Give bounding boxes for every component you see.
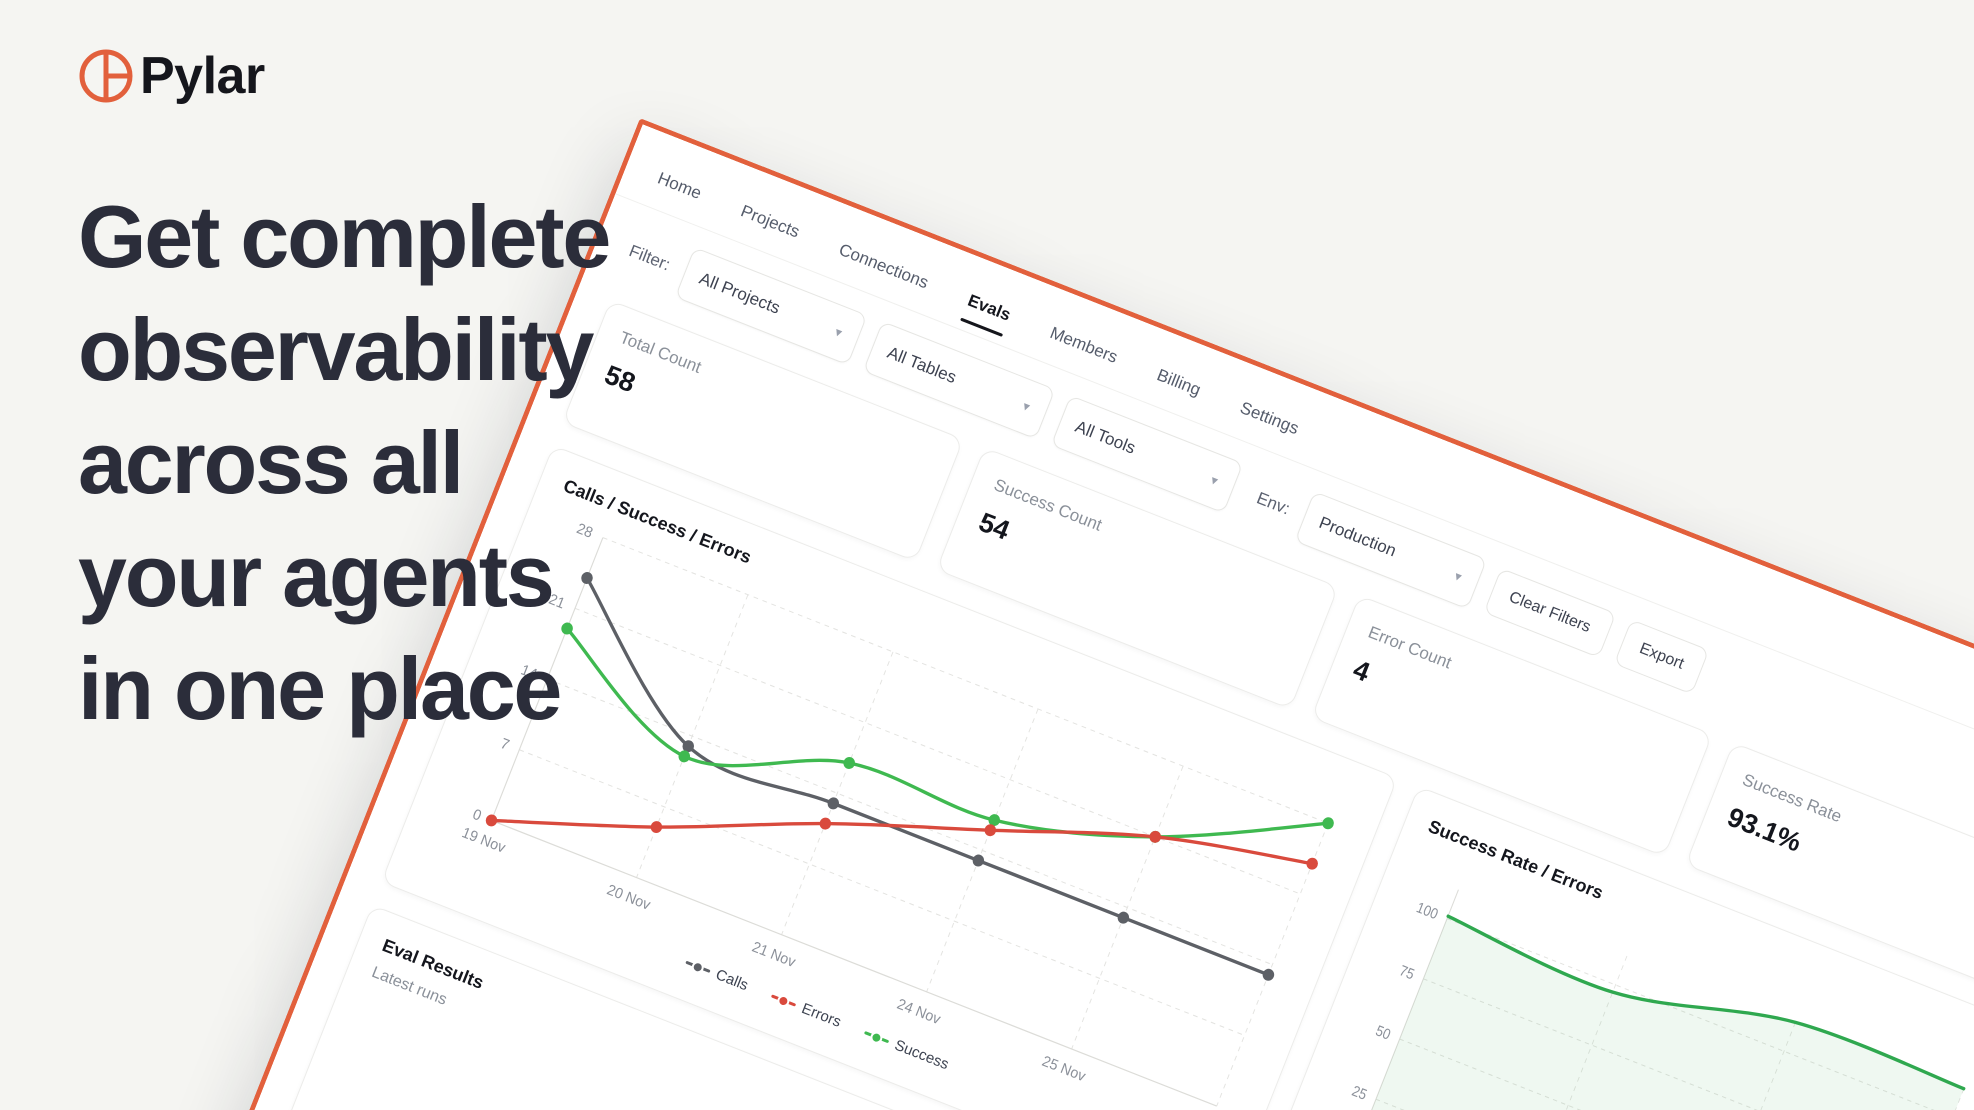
chevron-down-icon: ▾: [1020, 398, 1032, 415]
svg-text:50: 50: [1373, 1021, 1393, 1042]
legend-swatch-calls: [685, 961, 710, 973]
page-title: Get complete observability across all yo…: [78, 180, 798, 745]
pylar-circle-logo-icon: [78, 48, 134, 104]
svg-text:25: 25: [1349, 1082, 1369, 1103]
svg-text:75: 75: [1397, 961, 1417, 982]
svg-text:25 Nov: 25 Nov: [1040, 1053, 1089, 1085]
nav-item-evals[interactable]: Evals: [960, 291, 1013, 337]
brand-logo[interactable]: Pylar: [78, 44, 798, 108]
svg-text:0: 0: [470, 807, 483, 825]
legend-swatch-errors: [771, 994, 796, 1006]
svg-text:20 Nov: 20 Nov: [604, 882, 653, 914]
chevron-down-icon: ▾: [1452, 568, 1464, 585]
tables-select-value: All Tables: [884, 343, 959, 388]
brand-name: Pylar: [140, 50, 265, 102]
env-label: Env:: [1254, 488, 1293, 519]
svg-text:100: 100: [1414, 898, 1441, 922]
hero-section: Pylar Get complete observability across …: [78, 44, 798, 745]
svg-text:21 Nov: 21 Nov: [749, 939, 798, 971]
legend-swatch-success: [864, 1031, 889, 1043]
svg-text:24 Nov: 24 Nov: [895, 996, 944, 1028]
env-select-value: Production: [1316, 513, 1399, 561]
chevron-down-icon: ▾: [1208, 472, 1220, 489]
svg-text:19 Nov: 19 Nov: [459, 825, 508, 857]
chevron-down-icon: ▾: [832, 324, 844, 341]
tools-select-value: All Tools: [1072, 417, 1138, 459]
export-button[interactable]: Export: [1613, 619, 1709, 695]
nav-item-billing[interactable]: Billing: [1150, 365, 1204, 411]
